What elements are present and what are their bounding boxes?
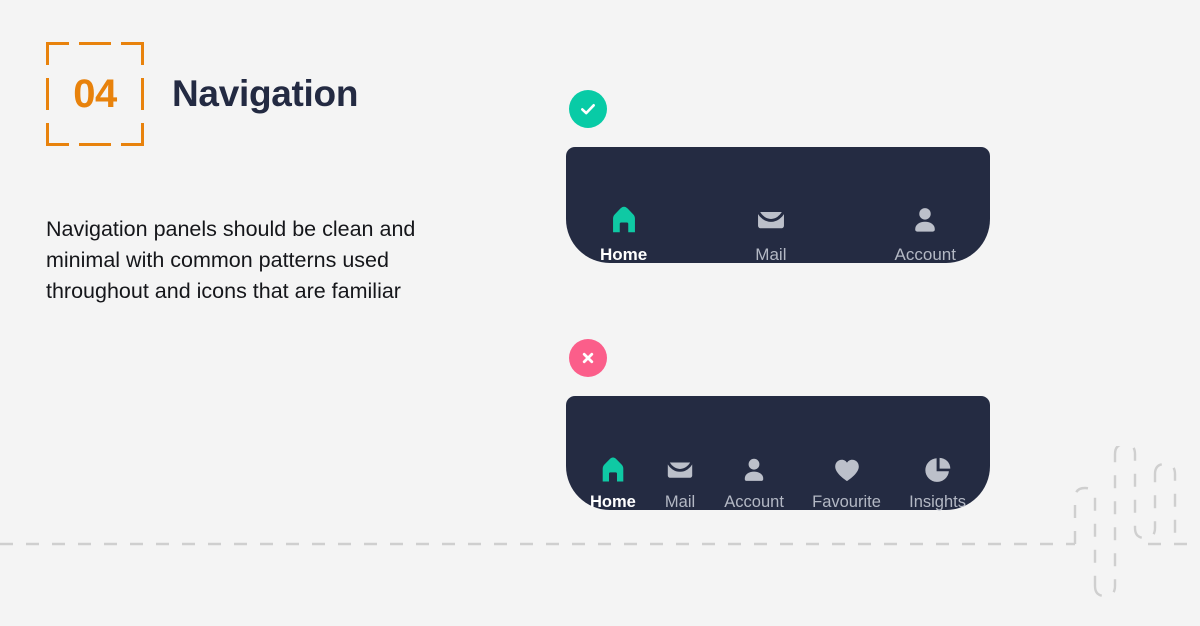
pie-chart-icon — [922, 454, 954, 486]
section-number-frame: 04 — [46, 42, 144, 146]
dashed-skyline-bar-5 — [1155, 464, 1175, 544]
nav-label-favourite: Favourite — [812, 494, 881, 511]
nav-item-account[interactable]: Account — [724, 454, 784, 511]
frame-dash-bottom — [79, 143, 111, 146]
frame-dash-top — [79, 42, 111, 45]
nav-panel-good: Home Mail — [566, 147, 990, 263]
nav-panel-bad: Home Mail — [566, 396, 990, 510]
mail-icon — [754, 203, 788, 237]
nav-item-favourite[interactable]: Favourite — [812, 454, 881, 511]
home-icon — [607, 203, 641, 237]
nav-label-home: Home — [590, 494, 636, 511]
frame-corner-top-left — [46, 42, 69, 65]
close-icon — [578, 348, 598, 368]
nav-items-good: Home Mail — [600, 203, 956, 263]
check-icon — [578, 99, 598, 119]
nav-item-home[interactable]: Home — [600, 203, 647, 263]
frame-corner-top-right — [121, 42, 144, 65]
home-icon — [597, 454, 629, 486]
section-description: Navigation panels should be clean and mi… — [46, 214, 466, 307]
account-icon — [738, 454, 770, 486]
nav-label-mail: Mail — [665, 494, 695, 511]
nav-item-mail[interactable]: Mail — [754, 203, 788, 263]
nav-label-home: Home — [600, 246, 647, 263]
frame-corner-bottom-left — [46, 123, 69, 146]
status-badge-good — [569, 90, 607, 128]
dashed-skyline-bar-3 — [1115, 446, 1135, 528]
slide-intro: 04 Navigation Navigation panels should b… — [46, 42, 506, 307]
dashed-skyline-bar-4 — [1135, 474, 1155, 538]
example-bad: Home Mail — [566, 339, 990, 510]
mail-icon — [664, 454, 696, 486]
example-good: Home Mail — [566, 90, 990, 263]
nav-label-account: Account — [724, 494, 784, 511]
account-icon — [908, 203, 942, 237]
title-row: 04 Navigation — [46, 42, 506, 146]
frame-dash-right — [141, 78, 144, 110]
nav-item-account[interactable]: Account — [895, 203, 956, 263]
dashed-skyline-bar-1 — [1075, 488, 1095, 586]
section-number: 04 — [73, 74, 117, 114]
page-title: Navigation — [172, 73, 358, 115]
nav-label-account: Account — [895, 246, 956, 263]
nav-label-mail: Mail — [755, 246, 786, 263]
frame-corner-bottom-right — [121, 123, 144, 146]
nav-item-mail[interactable]: Mail — [664, 454, 696, 511]
heart-icon — [831, 454, 863, 486]
nav-item-insights[interactable]: Insights — [909, 454, 966, 511]
status-badge-bad — [569, 339, 607, 377]
dashed-skyline-bar-2 — [1095, 454, 1115, 596]
frame-dash-left — [46, 78, 49, 110]
nav-label-insights: Insights — [909, 494, 966, 511]
nav-items-bad: Home Mail — [590, 454, 966, 511]
examples-container: Home Mail — [566, 90, 990, 510]
nav-item-home[interactable]: Home — [590, 454, 636, 511]
